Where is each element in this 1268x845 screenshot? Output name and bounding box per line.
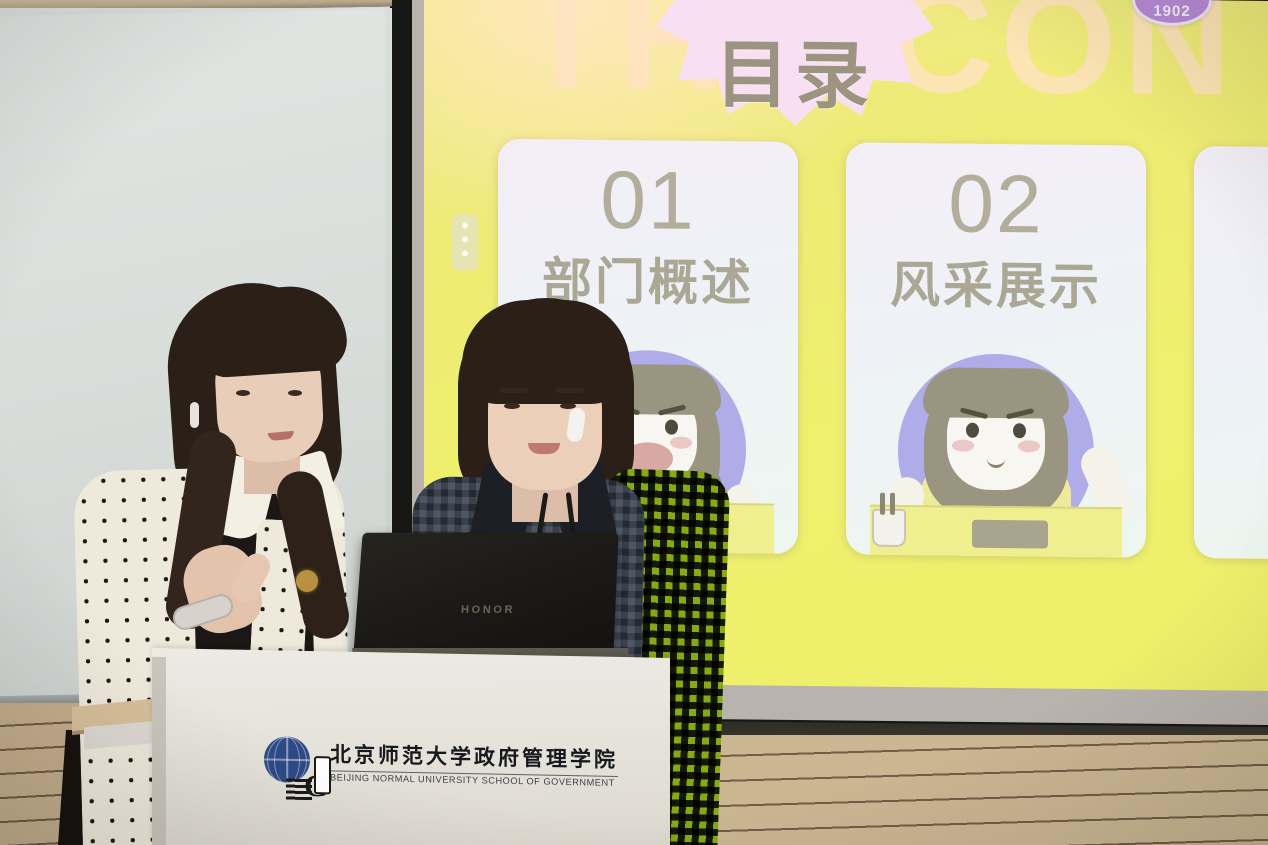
character-blush-right: [670, 437, 692, 449]
card-title: 风采展示: [890, 245, 1102, 319]
presenter-right-eye-left: [504, 403, 520, 409]
presenter-right-brow-left: [500, 388, 528, 393]
tab-dot: [462, 250, 468, 256]
lectern-logo-text: 北京师范大学政府管理学院 BEIJING NORMAL UNIVERSITY S…: [330, 738, 618, 788]
laptop-lid: HONOR: [353, 533, 618, 657]
tab-dot: [462, 222, 468, 228]
card-number: 01: [600, 162, 695, 241]
presenter-left-eye-right: [288, 390, 302, 396]
slide-card-02: 02 风采展示: [846, 142, 1146, 557]
presentation-photo: THE CON 1902 目录 01 部门概述: [0, 0, 1268, 845]
presenter-right-fringe: [462, 300, 630, 404]
character-blush-left: [952, 440, 974, 452]
illustration-pen: [880, 493, 885, 515]
presenter-left-earring: [190, 402, 199, 428]
presenter-left-brooch: [296, 570, 318, 592]
logo-key-icon: [314, 756, 331, 794]
illustration-tablet: [972, 520, 1048, 549]
slide-title: 目录: [656, 14, 934, 124]
lectern-logo: G 北京师范大学政府管理学院 BEIJING NORMAL UNIVERSITY…: [264, 736, 618, 789]
slide-edge-tab: [452, 214, 478, 270]
card-number: 02: [948, 165, 1043, 244]
character-eye-left: [966, 423, 979, 438]
card-illustration-02: [846, 344, 1146, 557]
lectern: G 北京师范大学政府管理学院 BEIJING NORMAL UNIVERSITY…: [152, 648, 670, 845]
presenter-right-brow-right: [556, 388, 584, 393]
slide-card-03-partial: 汇: [1194, 146, 1268, 559]
tab-dot: [462, 236, 468, 242]
globe-meridian: [267, 736, 307, 783]
character-fringe: [923, 367, 1069, 419]
illustration-pen-cup: [872, 509, 906, 547]
character-eye-right: [665, 420, 678, 435]
lectern-logo-chinese: 北京师范大学政府管理学院: [330, 738, 618, 777]
lectern-side-panel: [152, 657, 166, 845]
illustration-pen: [890, 493, 895, 515]
character-eye-right: [1013, 423, 1026, 438]
laptop-brand-label: HONOR: [461, 604, 516, 616]
presenter-left-eye-left: [236, 390, 250, 396]
badge-year-label: 1902: [1153, 3, 1190, 23]
character-blush-right: [1018, 440, 1040, 452]
